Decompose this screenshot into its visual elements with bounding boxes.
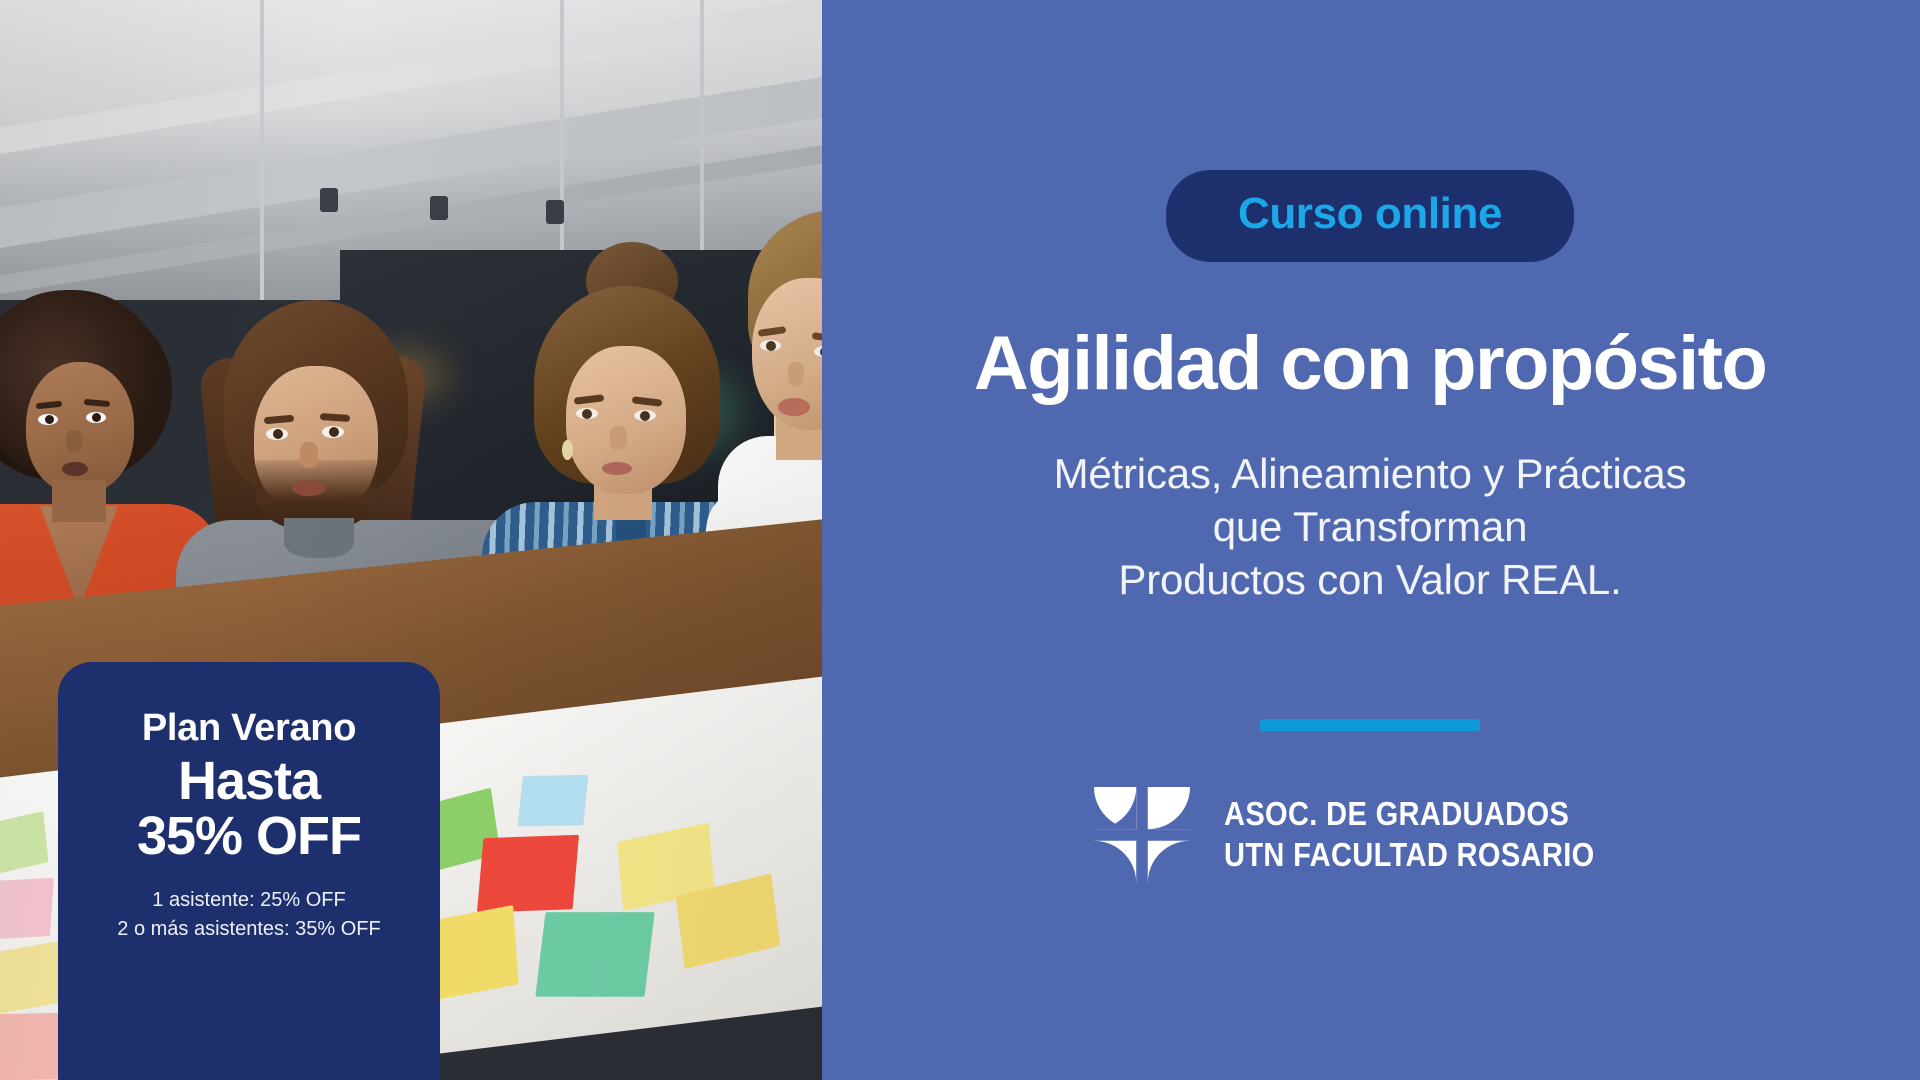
organization-name-line-1: ASOC. DE GRADUADOS <box>1224 794 1595 834</box>
pupil <box>640 411 650 421</box>
promo-tier-1: 1 asistente: 25% OFF <box>84 886 414 915</box>
section-divider <box>1260 719 1480 731</box>
mouth <box>602 462 632 475</box>
organization-brand: ASOC. DE GRADUADOS UTN FACULTAD ROSARIO <box>890 787 1850 883</box>
mouth <box>778 398 810 416</box>
sticky-note <box>477 835 579 913</box>
ceiling-spotlight <box>546 200 564 224</box>
neck <box>52 480 106 522</box>
pupil <box>273 429 283 439</box>
subtitle-line-2: que Transforman <box>890 501 1850 554</box>
course-info-panel: Curso online Agilidad con propósito Métr… <box>822 0 1920 1080</box>
sticky-note <box>0 878 54 940</box>
pupil <box>329 427 339 437</box>
promo-discount-card: Plan Verano Hasta 35% OFF 1 asistente: 2… <box>58 662 440 1080</box>
utn-logo-mark <box>1094 787 1190 883</box>
sticky-note <box>535 912 654 997</box>
team-collaboration-photo: Plan Verano Hasta 35% OFF 1 asistente: 2… <box>0 0 822 1080</box>
promo-discount-value: 35% OFF <box>84 809 414 864</box>
badge-container: Curso online <box>890 170 1850 262</box>
promo-tier-2: 2 o más asistentes: 35% OFF <box>84 915 414 944</box>
promo-tier-list: 1 asistente: 25% OFF 2 o más asistentes:… <box>84 886 414 944</box>
nose <box>610 426 627 450</box>
course-promo-banner: Plan Verano Hasta 35% OFF 1 asistente: 2… <box>0 0 1920 1080</box>
collar <box>284 518 354 558</box>
course-subtitle: Métricas, Alineamiento y Prácticas que T… <box>890 448 1850 607</box>
sticky-note <box>0 811 49 877</box>
page-title: Agilidad con propósito <box>890 324 1850 404</box>
course-format-badge: Curso online <box>1166 170 1574 262</box>
ceiling-spotlight <box>430 196 448 220</box>
sticky-note <box>518 775 589 827</box>
pupil <box>582 409 592 419</box>
nose <box>66 430 82 452</box>
nose <box>788 362 804 386</box>
glass-partition-line <box>260 0 264 300</box>
mouth <box>292 480 326 496</box>
earring <box>562 440 573 460</box>
subtitle-line-1: Métricas, Alineamiento y Prácticas <box>890 448 1850 501</box>
organization-name-line-2: UTN FACULTAD ROSARIO <box>1224 835 1595 875</box>
organization-name: ASOC. DE GRADUADOS UTN FACULTAD ROSARIO <box>1224 794 1595 875</box>
nose <box>300 442 318 468</box>
promo-hasta-label: Hasta <box>84 754 414 809</box>
pupil <box>92 413 101 422</box>
mouth <box>62 462 88 476</box>
subtitle-line-3: Productos con Valor REAL. <box>890 554 1850 607</box>
pupil <box>45 415 54 424</box>
pupil <box>766 341 776 351</box>
promo-plan-label: Plan Verano <box>84 708 414 750</box>
ceiling-spotlight <box>320 188 338 212</box>
